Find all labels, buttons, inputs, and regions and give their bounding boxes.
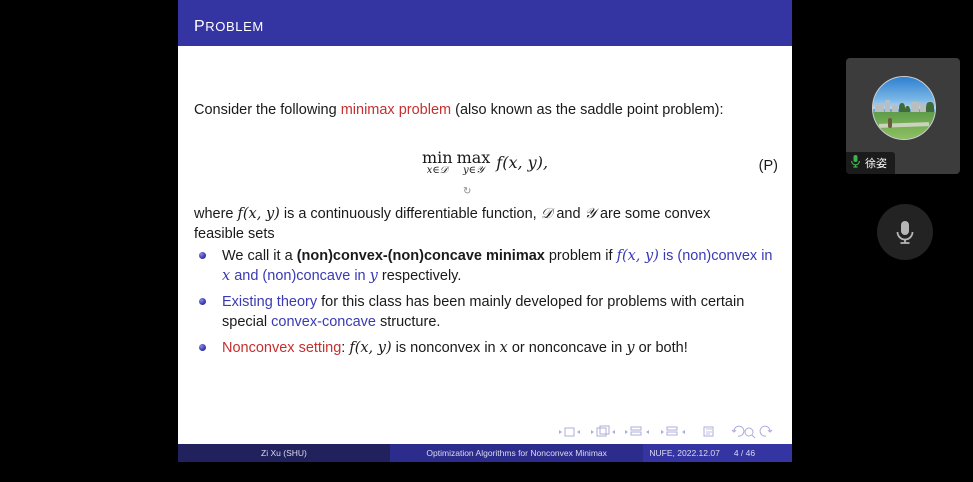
max-subscript: y∈𝒴 (457, 166, 491, 176)
page-title-rest: ROBLEM (205, 15, 264, 35)
min-operator: min x∈𝒟 (422, 150, 453, 176)
footer-author: Zi Xu (SHU) (178, 444, 390, 462)
bullet-list: We call it a (non)convex-(non)concave mi… (194, 246, 774, 364)
intro-text-after: (also known as the saddle point problem)… (451, 102, 723, 118)
microphone-icon[interactable] (850, 154, 861, 173)
shared-slide: PROBLEM Consider the following minimax p… (178, 0, 792, 462)
where-part1: where (194, 206, 238, 222)
bullet-existing-theory-seg-0: Existing theory (222, 294, 317, 310)
slide-footer: Zi Xu (SHU) Optimization Algorithms for … (178, 444, 792, 462)
document-nav-icon (704, 427, 713, 436)
bullet-nonconvex-setting-seg-3: is nonconvex in (392, 340, 500, 356)
bullet-existing-theory-seg-3: structure. (376, 314, 440, 330)
slide-title-bar: PROBLEM (178, 0, 792, 46)
bullet-definition-seg-6: x (222, 268, 230, 284)
intro-paragraph: Consider the following minimax problem (… (194, 100, 754, 120)
search-nav-icon (745, 428, 755, 438)
bullet-dot-icon (199, 298, 206, 305)
equation-body: f(x, y), (496, 153, 548, 172)
participant-video-tile[interactable]: 徐姿 (846, 58, 960, 174)
page-title-initial: P (194, 10, 205, 36)
participant-name: 徐姿 (865, 155, 887, 171)
where-part2: is a continuously differentiable functio… (280, 206, 541, 222)
max-label: max (457, 150, 491, 166)
equation-row: min x∈𝒟 max y∈𝒴 f(x, y), (P) ↻ (178, 150, 792, 194)
bullet-nonconvex-setting-seg-7: or both! (635, 340, 688, 356)
intro-highlight: minimax problem (341, 102, 451, 118)
footer-venue-date: NUFE, 2022.12.07 (649, 448, 719, 458)
where-paragraph: where f(x, y) is a continuously differen… (194, 204, 764, 244)
bullet-definition-seg-8: y (370, 268, 378, 284)
where-math3: 𝒴 (585, 206, 596, 222)
equation-tag: (P) (759, 158, 778, 174)
bullet-nonconvex-setting-seg-5: or nonconcave in (508, 340, 627, 356)
bullet-definition-seg-9: respectively. (378, 268, 462, 284)
microphone-button[interactable] (877, 204, 933, 260)
audio-participant-tile[interactable] (846, 190, 960, 290)
bullet-dot-icon (199, 252, 206, 259)
page-title: PROBLEM (194, 10, 264, 37)
slide-body: Consider the following minimax problem (… (178, 46, 792, 426)
avatar (872, 76, 936, 140)
display-equation: min x∈𝒟 max y∈𝒴 f(x, y), (178, 150, 792, 176)
bullet-definition-seg-1: (non)convex-(non)concave minimax (297, 248, 545, 264)
bullet-existing-theory: Existing theory for this class has been … (194, 292, 774, 332)
footer-page-number: 4 / 46 (734, 448, 755, 458)
section-nav-icon (661, 427, 685, 435)
frame-nav-icon (591, 426, 615, 436)
avatar-person (888, 118, 892, 128)
microphone-icon (894, 218, 916, 246)
bullet-definition-seg-0: We call it a (222, 248, 297, 264)
intro-text-before: Consider the following (194, 102, 341, 118)
bullet-nonconvex-setting-seg-4: x (500, 340, 508, 356)
participant-name-badge: 徐姿 (846, 152, 895, 174)
max-operator: max y∈𝒴 (457, 150, 491, 176)
min-label: min (422, 150, 453, 166)
bullet-dot-icon (199, 344, 206, 351)
bullet-nonconvex-setting-seg-0: Nonconvex setting (222, 340, 341, 356)
bullet-nonconvex-setting: Nonconvex setting: f(x, y) is nonconvex … (194, 338, 774, 358)
bullet-definition: We call it a (non)convex-(non)concave mi… (194, 246, 774, 286)
where-math1: f(x, y) (238, 206, 280, 222)
bullet-definition-seg-7: and (non)concave in (230, 268, 369, 284)
where-math2: 𝒟 (541, 206, 553, 222)
footer-talk-title: Optimization Algorithms for Nonconvex Mi… (390, 444, 644, 462)
min-subscript: x∈𝒟 (422, 166, 453, 176)
back-nav-icon (732, 426, 744, 436)
bullet-definition-seg-5: (non)convex in (677, 248, 772, 264)
bullet-nonconvex-setting-seg-6: y (626, 340, 634, 356)
where-part3: and (552, 206, 584, 222)
bullet-nonconvex-setting-seg-2: f(x, y) (349, 340, 391, 356)
beamer-navigation-symbols[interactable] (556, 424, 786, 440)
subsection-nav-icon (625, 427, 649, 435)
footer-right: NUFE, 2022.12.07 4 / 46 (643, 444, 792, 462)
slide-nav-icon (559, 428, 580, 436)
bullet-definition-seg-2: problem if (545, 248, 617, 264)
mouse-cursor-icon: ↻ (463, 186, 472, 195)
forward-nav-icon (760, 426, 772, 436)
bullet-definition-seg-4: is (659, 248, 678, 264)
bullet-existing-theory-seg-2: convex-concave (271, 314, 376, 330)
bullet-definition-seg-3: f(x, y) (617, 248, 659, 264)
